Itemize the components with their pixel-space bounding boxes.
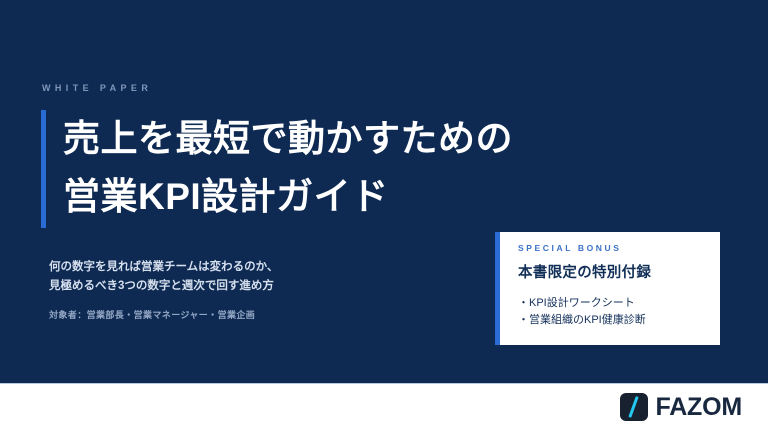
audience-label: 対象者：営業部長・営業マネージャー・営業企画 [49, 308, 255, 321]
subtitle: 何の数字を見れば営業チームは変わるのか、 見極めるべき3つの数字と週次で回す進め… [49, 258, 278, 296]
title-accent-bar [41, 110, 46, 228]
special-bonus-content: SPECIAL BONUS 本書限定の特別付録 ・KPI設計ワークシート ・営業… [500, 232, 720, 329]
brand-wordmark: FAZOM [656, 395, 743, 420]
list-item: ・営業組織のKPI健康診断 [518, 312, 720, 329]
slash-icon-stroke [628, 396, 639, 418]
footer-bar: FAZOM [0, 383, 768, 432]
title-line-2: 営業KPI設計ガイド [63, 168, 663, 226]
list-item: ・KPI設計ワークシート [518, 295, 720, 312]
subtitle-line-1: 何の数字を見れば営業チームは変わるのか、 [49, 258, 278, 277]
subtitle-line-2: 見極めるべき3つの数字と週次で回す進め方 [49, 277, 278, 296]
special-bonus-card: SPECIAL BONUS 本書限定の特別付録 ・KPI設計ワークシート ・営業… [495, 232, 720, 345]
special-bonus-eyebrow: SPECIAL BONUS [518, 243, 720, 253]
brand-logo: FAZOM [620, 393, 743, 421]
slash-icon [620, 393, 648, 421]
special-bonus-list: ・KPI設計ワークシート ・営業組織のKPI健康診断 [518, 295, 720, 329]
eyebrow-label: WHITE PAPER [42, 83, 152, 93]
hero-section: WHITE PAPER 売上を最短で動かすための 営業KPI設計ガイド 何の数字… [0, 0, 768, 383]
whitepaper-cover-slide: WHITE PAPER 売上を最短で動かすための 営業KPI設計ガイド 何の数字… [0, 0, 768, 432]
special-bonus-heading: 本書限定の特別付録 [518, 261, 720, 282]
page-title: 売上を最短で動かすための 営業KPI設計ガイド [41, 110, 663, 226]
title-line-1: 売上を最短で動かすための [63, 110, 663, 168]
